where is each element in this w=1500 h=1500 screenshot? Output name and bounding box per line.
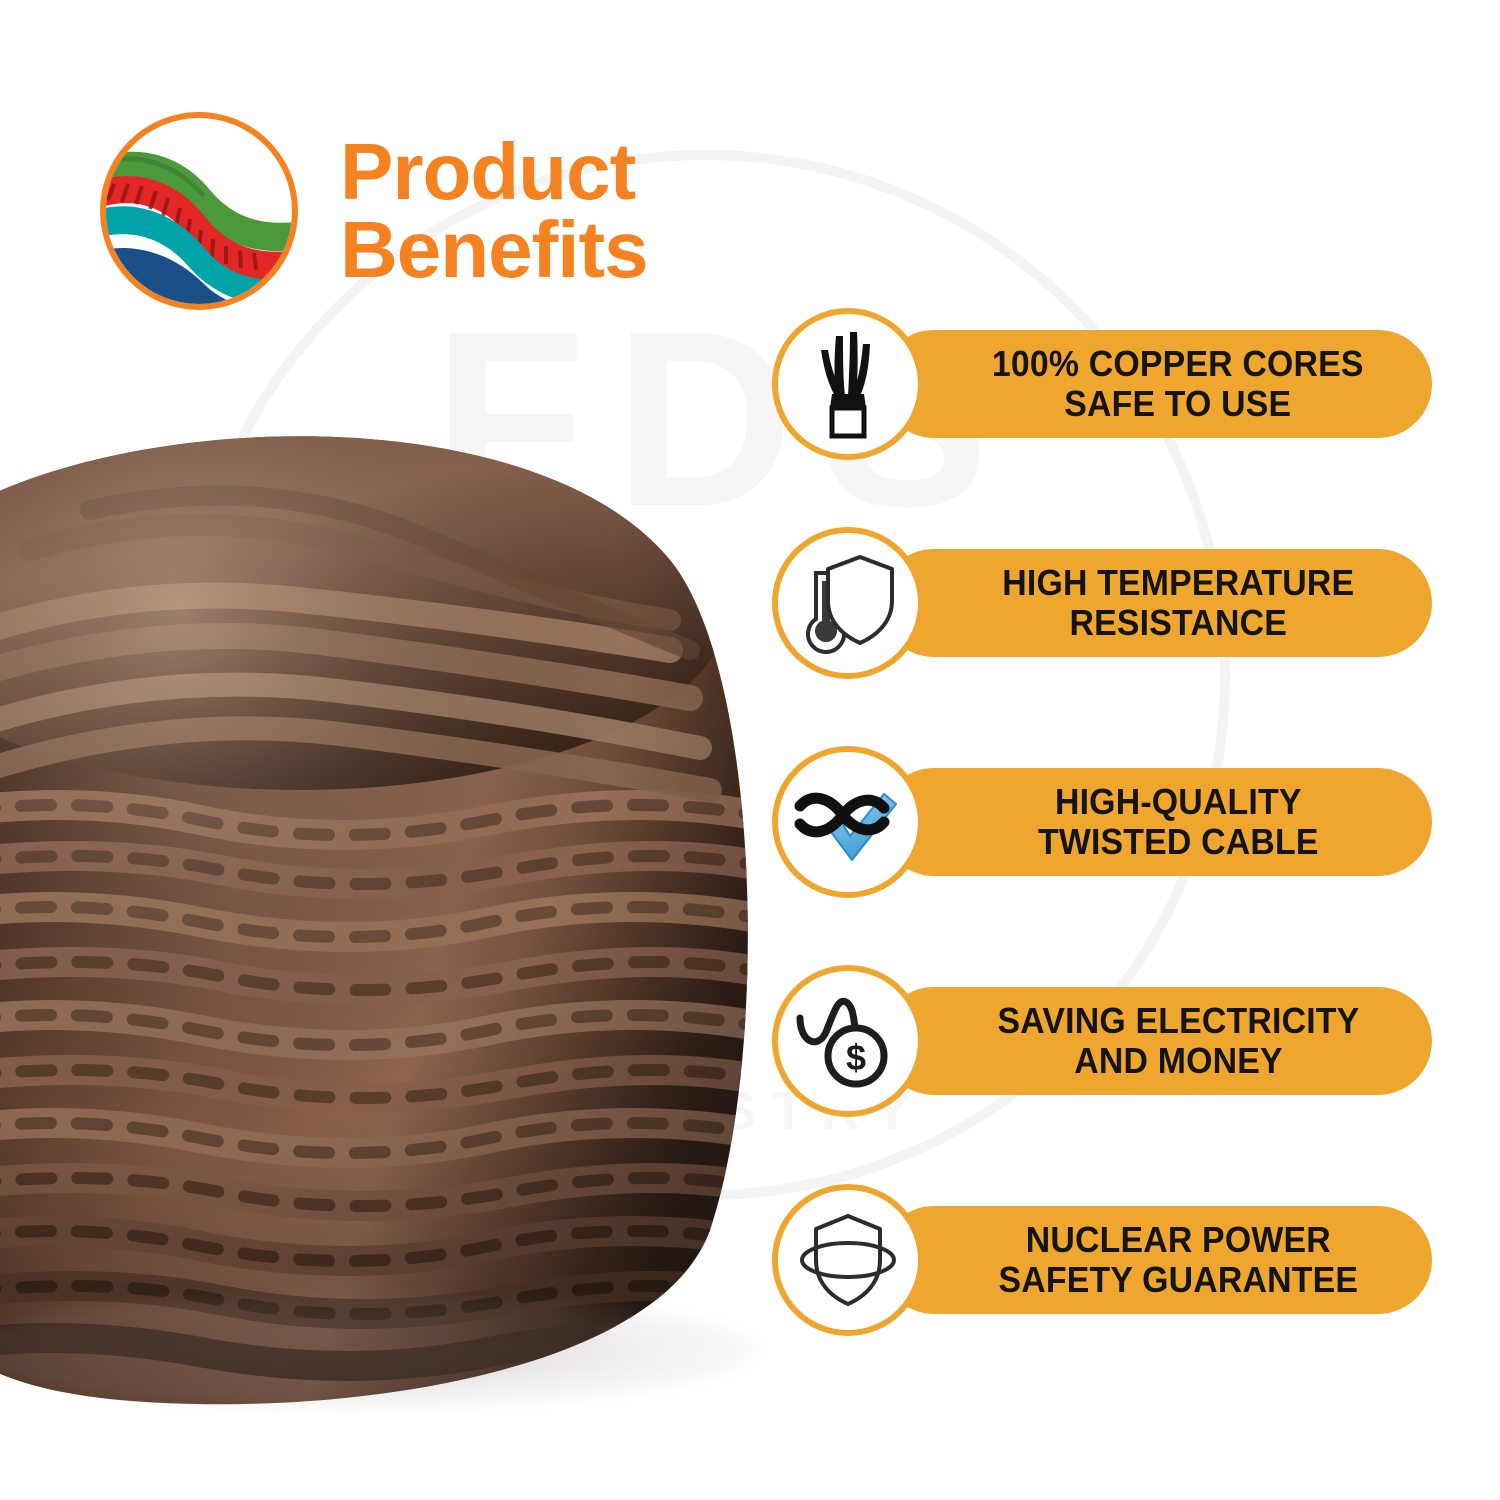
- infographic-canvas: FDS INDUSTRY: [0, 0, 1500, 1500]
- cable-coil-illustration: [0, 350, 800, 1420]
- stripped-cable-icon: [772, 308, 924, 460]
- benefit-pill: SAVING ELECTRICITY AND MONEY: [880, 987, 1432, 1095]
- twisted-cable-check-glyph: [792, 772, 904, 872]
- page-title: Product Benefits: [340, 133, 648, 290]
- benefit-item-twisted-cable[interactable]: HIGH-QUALITY TWISTED CABLE: [772, 746, 1432, 896]
- wavy-ribbons-logo-icon: [100, 112, 298, 310]
- benefit-item-saving-electricity[interactable]: SAVING ELECTRICITY AND MONEY $: [772, 965, 1432, 1115]
- wave-dollar-coin-icon: $: [772, 965, 924, 1117]
- benefit-label: HIGH-QUALITY TWISTED CABLE: [1038, 782, 1319, 863]
- benefit-pill: 100% COPPER CORES SAFE TO USE: [880, 330, 1432, 438]
- benefit-label: NUCLEAR POWER SAFETY GUARANTEE: [998, 1220, 1358, 1301]
- thermometer-shield-glyph: [794, 549, 902, 657]
- twisted-cable-check-icon: [772, 746, 924, 898]
- wave-dollar-coin-glyph: $: [794, 990, 902, 1092]
- benefit-item-nuclear-safety[interactable]: NUCLEAR POWER SAFETY GUARANTEE: [772, 1184, 1432, 1334]
- stripped-cable-glyph: [796, 328, 900, 440]
- product-photo: [0, 350, 800, 1420]
- benefit-label: 100% COPPER CORES SAFE TO USE: [992, 344, 1364, 425]
- benefit-item-high-temperature[interactable]: HIGH TEMPERATURE RESISTANCE: [772, 527, 1432, 677]
- svg-text:$: $: [846, 1037, 866, 1078]
- thermometer-shield-icon: [772, 527, 924, 679]
- logo-ribbons-svg: [106, 118, 292, 304]
- product-photo-shadow: [0, 1290, 760, 1410]
- header: Product Benefits: [100, 112, 648, 310]
- shield-orbit-icon: [772, 1184, 924, 1336]
- benefit-label: SAVING ELECTRICITY AND MONEY: [997, 1001, 1359, 1082]
- benefit-label: HIGH TEMPERATURE RESISTANCE: [1002, 563, 1354, 644]
- benefit-item-copper-cores[interactable]: 100% COPPER CORES SAFE TO USE: [772, 308, 1432, 458]
- benefit-pill: HIGH-QUALITY TWISTED CABLE: [880, 768, 1432, 876]
- benefits-list: 100% COPPER CORES SAFE TO USE HIGH: [772, 308, 1432, 1334]
- benefit-pill: HIGH TEMPERATURE RESISTANCE: [880, 549, 1432, 657]
- shield-orbit-glyph: [796, 1210, 900, 1310]
- benefit-pill: NUCLEAR POWER SAFETY GUARANTEE: [880, 1206, 1432, 1314]
